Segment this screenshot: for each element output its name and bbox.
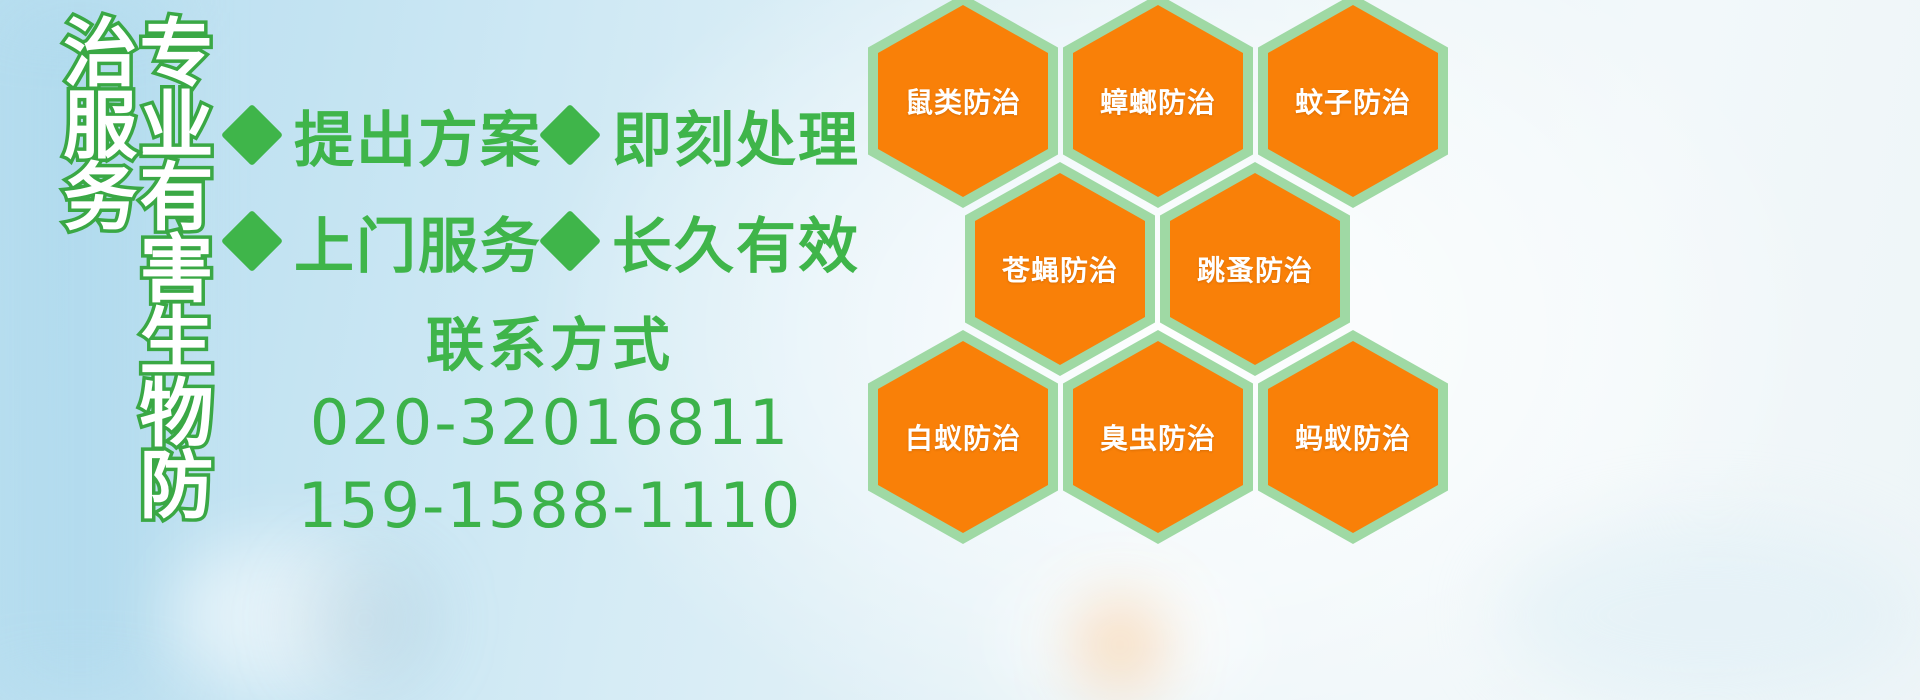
hex-inner-fill: 蚂蚁防治	[1268, 341, 1438, 533]
feature-label: 提出方案	[294, 92, 542, 179]
feature-label: 长久有效	[612, 198, 860, 285]
diamond-bullet-icon	[539, 104, 601, 166]
hex-tile-mosquito-control[interactable]: 蚊子防治	[1258, 0, 1448, 208]
contact-phone-mobile[interactable]: 159-1588-1110	[230, 466, 870, 545]
hex-label: 鼠类防治	[905, 81, 1021, 121]
feature-item-propose-plan: 提出方案	[230, 92, 548, 179]
hex-tile-fly-control[interactable]: 苍蝇防治	[965, 162, 1155, 376]
hex-tile-cockroach-control[interactable]: 蟑螂防治	[1063, 0, 1253, 208]
hex-tile-bedbug-control[interactable]: 臭虫防治	[1063, 330, 1253, 544]
hex-label: 白蚁防治	[905, 417, 1021, 457]
pest-control-service-banner: 专业有害生物防治服务 提出方案 即刻处理 上门服务 长久有效 联系方式 0	[0, 0, 1920, 700]
hex-label: 蚊子防治	[1295, 81, 1411, 121]
hex-tile-flea-control[interactable]: 跳蚤防治	[1160, 162, 1350, 376]
hex-tile-termite-control[interactable]: 白蚁防治	[868, 330, 1058, 544]
hex-label: 苍蝇防治	[1002, 249, 1118, 289]
hex-label: 蚂蚁防治	[1295, 417, 1411, 457]
background-blob-four	[1500, 520, 1920, 700]
feature-item-long-lasting: 长久有效	[548, 198, 860, 285]
hex-label: 臭虫防治	[1100, 417, 1216, 457]
hex-label: 跳蚤防治	[1197, 249, 1313, 289]
diamond-bullet-icon	[221, 210, 283, 272]
feature-row-one: 提出方案 即刻处理	[230, 82, 870, 188]
hex-inner-fill: 白蚁防治	[878, 341, 1048, 533]
hex-inner-fill: 蟑螂防治	[1073, 5, 1243, 197]
hex-inner-fill: 鼠类防治	[878, 5, 1048, 197]
contact-title: 联系方式	[230, 312, 870, 379]
hex-inner-fill: 臭虫防治	[1073, 341, 1243, 533]
hex-label: 蟑螂防治	[1100, 81, 1216, 121]
feature-item-immediate-treatment: 即刻处理	[548, 92, 860, 179]
background-blob-two	[300, 560, 430, 680]
contact-block: 联系方式 020-32016811 159-1588-1110	[230, 312, 870, 545]
feature-label: 即刻处理	[612, 92, 860, 179]
hex-inner-fill: 苍蝇防治	[975, 173, 1145, 365]
hex-inner-fill: 蚊子防治	[1268, 5, 1438, 197]
hex-tile-ant-control[interactable]: 蚂蚁防治	[1258, 330, 1448, 544]
diamond-bullet-icon	[539, 210, 601, 272]
feature-row-two: 上门服务 长久有效	[230, 188, 870, 294]
service-hexagon-grid: 鼠类防治 蟑螂防治 蚊子防治 苍蝇防治 跳蚤防治 白蚁防治	[860, 0, 1480, 700]
vertical-company-slogan: 专业有害生物防治服务	[112, 14, 208, 564]
feature-list: 提出方案 即刻处理 上门服务 长久有效	[230, 82, 870, 294]
diamond-bullet-icon	[221, 104, 283, 166]
feature-item-onsite-service: 上门服务	[230, 198, 548, 285]
feature-label: 上门服务	[294, 198, 542, 285]
contact-phone-landline[interactable]: 020-32016811	[230, 383, 870, 462]
hex-tile-rodent-control[interactable]: 鼠类防治	[868, 0, 1058, 208]
hex-inner-fill: 跳蚤防治	[1170, 173, 1340, 365]
